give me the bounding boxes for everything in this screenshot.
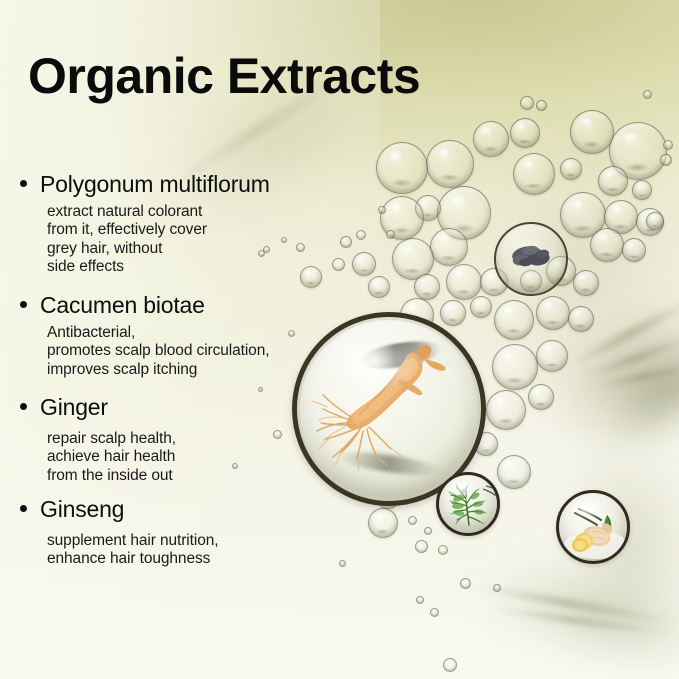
bubble [376,142,428,194]
bullet-icon [20,301,27,308]
bubble [470,296,492,318]
page-title: Organic Extracts [28,51,420,101]
bubble [258,387,263,392]
description-line: supplement hair nutrition, [47,532,360,550]
organic-extracts-poster: Organic Extracts Polygonum multiflorum e… [0,0,679,679]
description-line: improves scalp itching [47,361,360,379]
bubble [446,264,482,300]
ingredient-heading: Cacumen biotae [20,293,360,317]
bullet-icon [20,505,27,512]
bubble [568,306,594,332]
bubble [460,578,471,589]
description-line: from the inside out [47,467,360,485]
ginger-root-bubble [556,490,630,564]
polygonum-root-bubble [494,222,568,296]
bubble [598,166,628,196]
bubble [415,540,428,553]
ingredient-item-polygonum: Polygonum multiflorum extract natural co… [20,172,360,276]
bubble [536,100,547,111]
bubble [590,228,624,262]
bullet-icon [20,403,27,410]
description-line: enhance hair toughness [47,550,360,568]
bubble [430,608,439,617]
ingredient-item-ginseng: Ginseng supplement hair nutrition, enhan… [20,497,360,569]
ingredient-description: supplement hair nutrition, enhance hair … [47,532,360,569]
bubble [513,153,555,195]
cacumen-biotae-foliage-bubble [436,472,500,536]
description-line: promotes scalp blood circulation, [47,342,360,360]
bubble [493,584,501,592]
bubble [622,238,646,262]
ingredient-name: Ginseng [40,497,124,521]
ingredient-name: Polygonum multiflorum [40,172,270,196]
bubble [408,516,417,525]
bubble [660,154,672,166]
description-line: Antibacterial, [47,324,360,342]
bubble [416,596,424,604]
bubble [368,508,398,538]
bubble [378,206,386,214]
bubble [643,90,652,99]
bubble [438,545,448,555]
bubble [536,296,570,330]
bullet-icon [20,180,27,187]
bubble [497,455,531,489]
bubble [528,384,554,410]
ingredient-name: Ginger [40,395,108,419]
bubble [520,96,534,110]
bubble [510,118,540,148]
bubble [443,658,457,672]
bubble [426,140,474,188]
bubble [430,228,468,266]
bubble [632,180,652,200]
bubble [570,110,614,154]
description-line: grey hair, without [47,240,360,258]
bubble [473,121,509,157]
ingredient-description: Antibacterial, promotes scalp blood circ… [47,324,360,379]
description-line: achieve hair health [47,448,360,466]
bubble [573,270,599,296]
ingredient-item-ginger: Ginger repair scalp health, achieve hair… [20,395,360,485]
ingredient-description: repair scalp health, achieve hair health… [47,430,360,485]
bubble [424,527,432,535]
description-line: extract natural colorant [47,203,360,221]
description-line: repair scalp health, [47,430,360,448]
bubble [492,344,538,390]
description-line: from it, effectively cover [47,221,360,239]
bubble [414,274,440,300]
ingredient-item-cacumen-biotae: Cacumen biotae Antibacterial, promotes s… [20,293,360,379]
ingredient-description: extract natural colorant from it, effect… [47,203,360,276]
ingredient-heading: Polygonum multiflorum [20,172,360,196]
bubble [368,276,390,298]
bubble [560,158,582,180]
bubble [536,340,568,372]
bubble [486,390,526,430]
bubble [386,230,395,239]
bubble [646,212,664,230]
ingredient-name: Cacumen biotae [40,293,205,317]
ingredient-heading: Ginger [20,395,360,419]
bubble [494,300,534,340]
description-line: side effects [47,258,360,276]
bubble [663,140,673,150]
ingredient-heading: Ginseng [20,497,360,521]
